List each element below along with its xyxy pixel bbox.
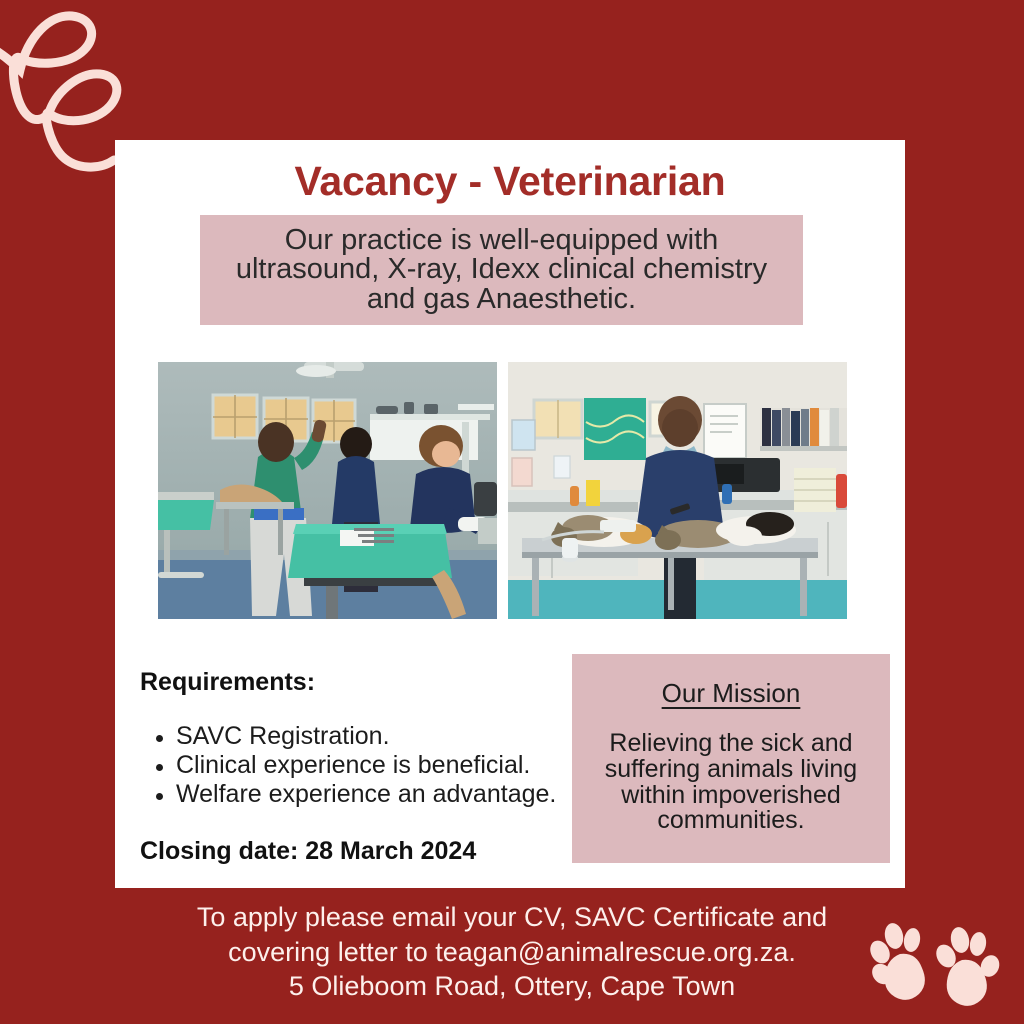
footer-line-1: To apply please email your CV, SAVC Cert… bbox=[0, 900, 1024, 935]
requirements-block: Requirements: SAVC Registration. Clinica… bbox=[140, 668, 570, 866]
page-title: Vacancy - Veterinarian bbox=[115, 158, 905, 205]
photo-gallery bbox=[158, 362, 853, 619]
mission-body: Relieving the sick and suffering animals… bbox=[586, 731, 876, 834]
requirements-list: SAVC Registration. Clinical experience i… bbox=[140, 723, 570, 808]
footer-contact: To apply please email your CV, SAVC Cert… bbox=[0, 900, 1024, 1004]
list-item: Welfare experience an advantage. bbox=[176, 781, 570, 809]
requirements-heading: Requirements: bbox=[140, 668, 570, 697]
mission-title: Our Mission bbox=[586, 678, 876, 709]
content-card: Vacancy - Veterinarian Our practice is w… bbox=[115, 140, 905, 888]
intro-text: Our practice is well-equipped with ultra… bbox=[200, 226, 803, 315]
mission-panel: Our Mission Relieving the sick and suffe… bbox=[572, 654, 890, 863]
list-item: Clinical experience is beneficial. bbox=[176, 752, 570, 780]
vacancy-poster: Vacancy - Veterinarian Our practice is w… bbox=[0, 0, 1024, 1024]
photo-surgery-theatre bbox=[158, 362, 497, 619]
footer-line-3: 5 Olieboom Road, Ottery, Cape Town bbox=[0, 969, 1024, 1004]
closing-date: Closing date: 28 March 2024 bbox=[140, 837, 570, 866]
list-item: SAVC Registration. bbox=[176, 723, 570, 751]
footer-line-2: covering letter to teagan@animalrescue.o… bbox=[0, 935, 1024, 970]
intro-panel: Our practice is well-equipped with ultra… bbox=[200, 215, 803, 325]
photo-vet-with-cats bbox=[508, 362, 847, 619]
